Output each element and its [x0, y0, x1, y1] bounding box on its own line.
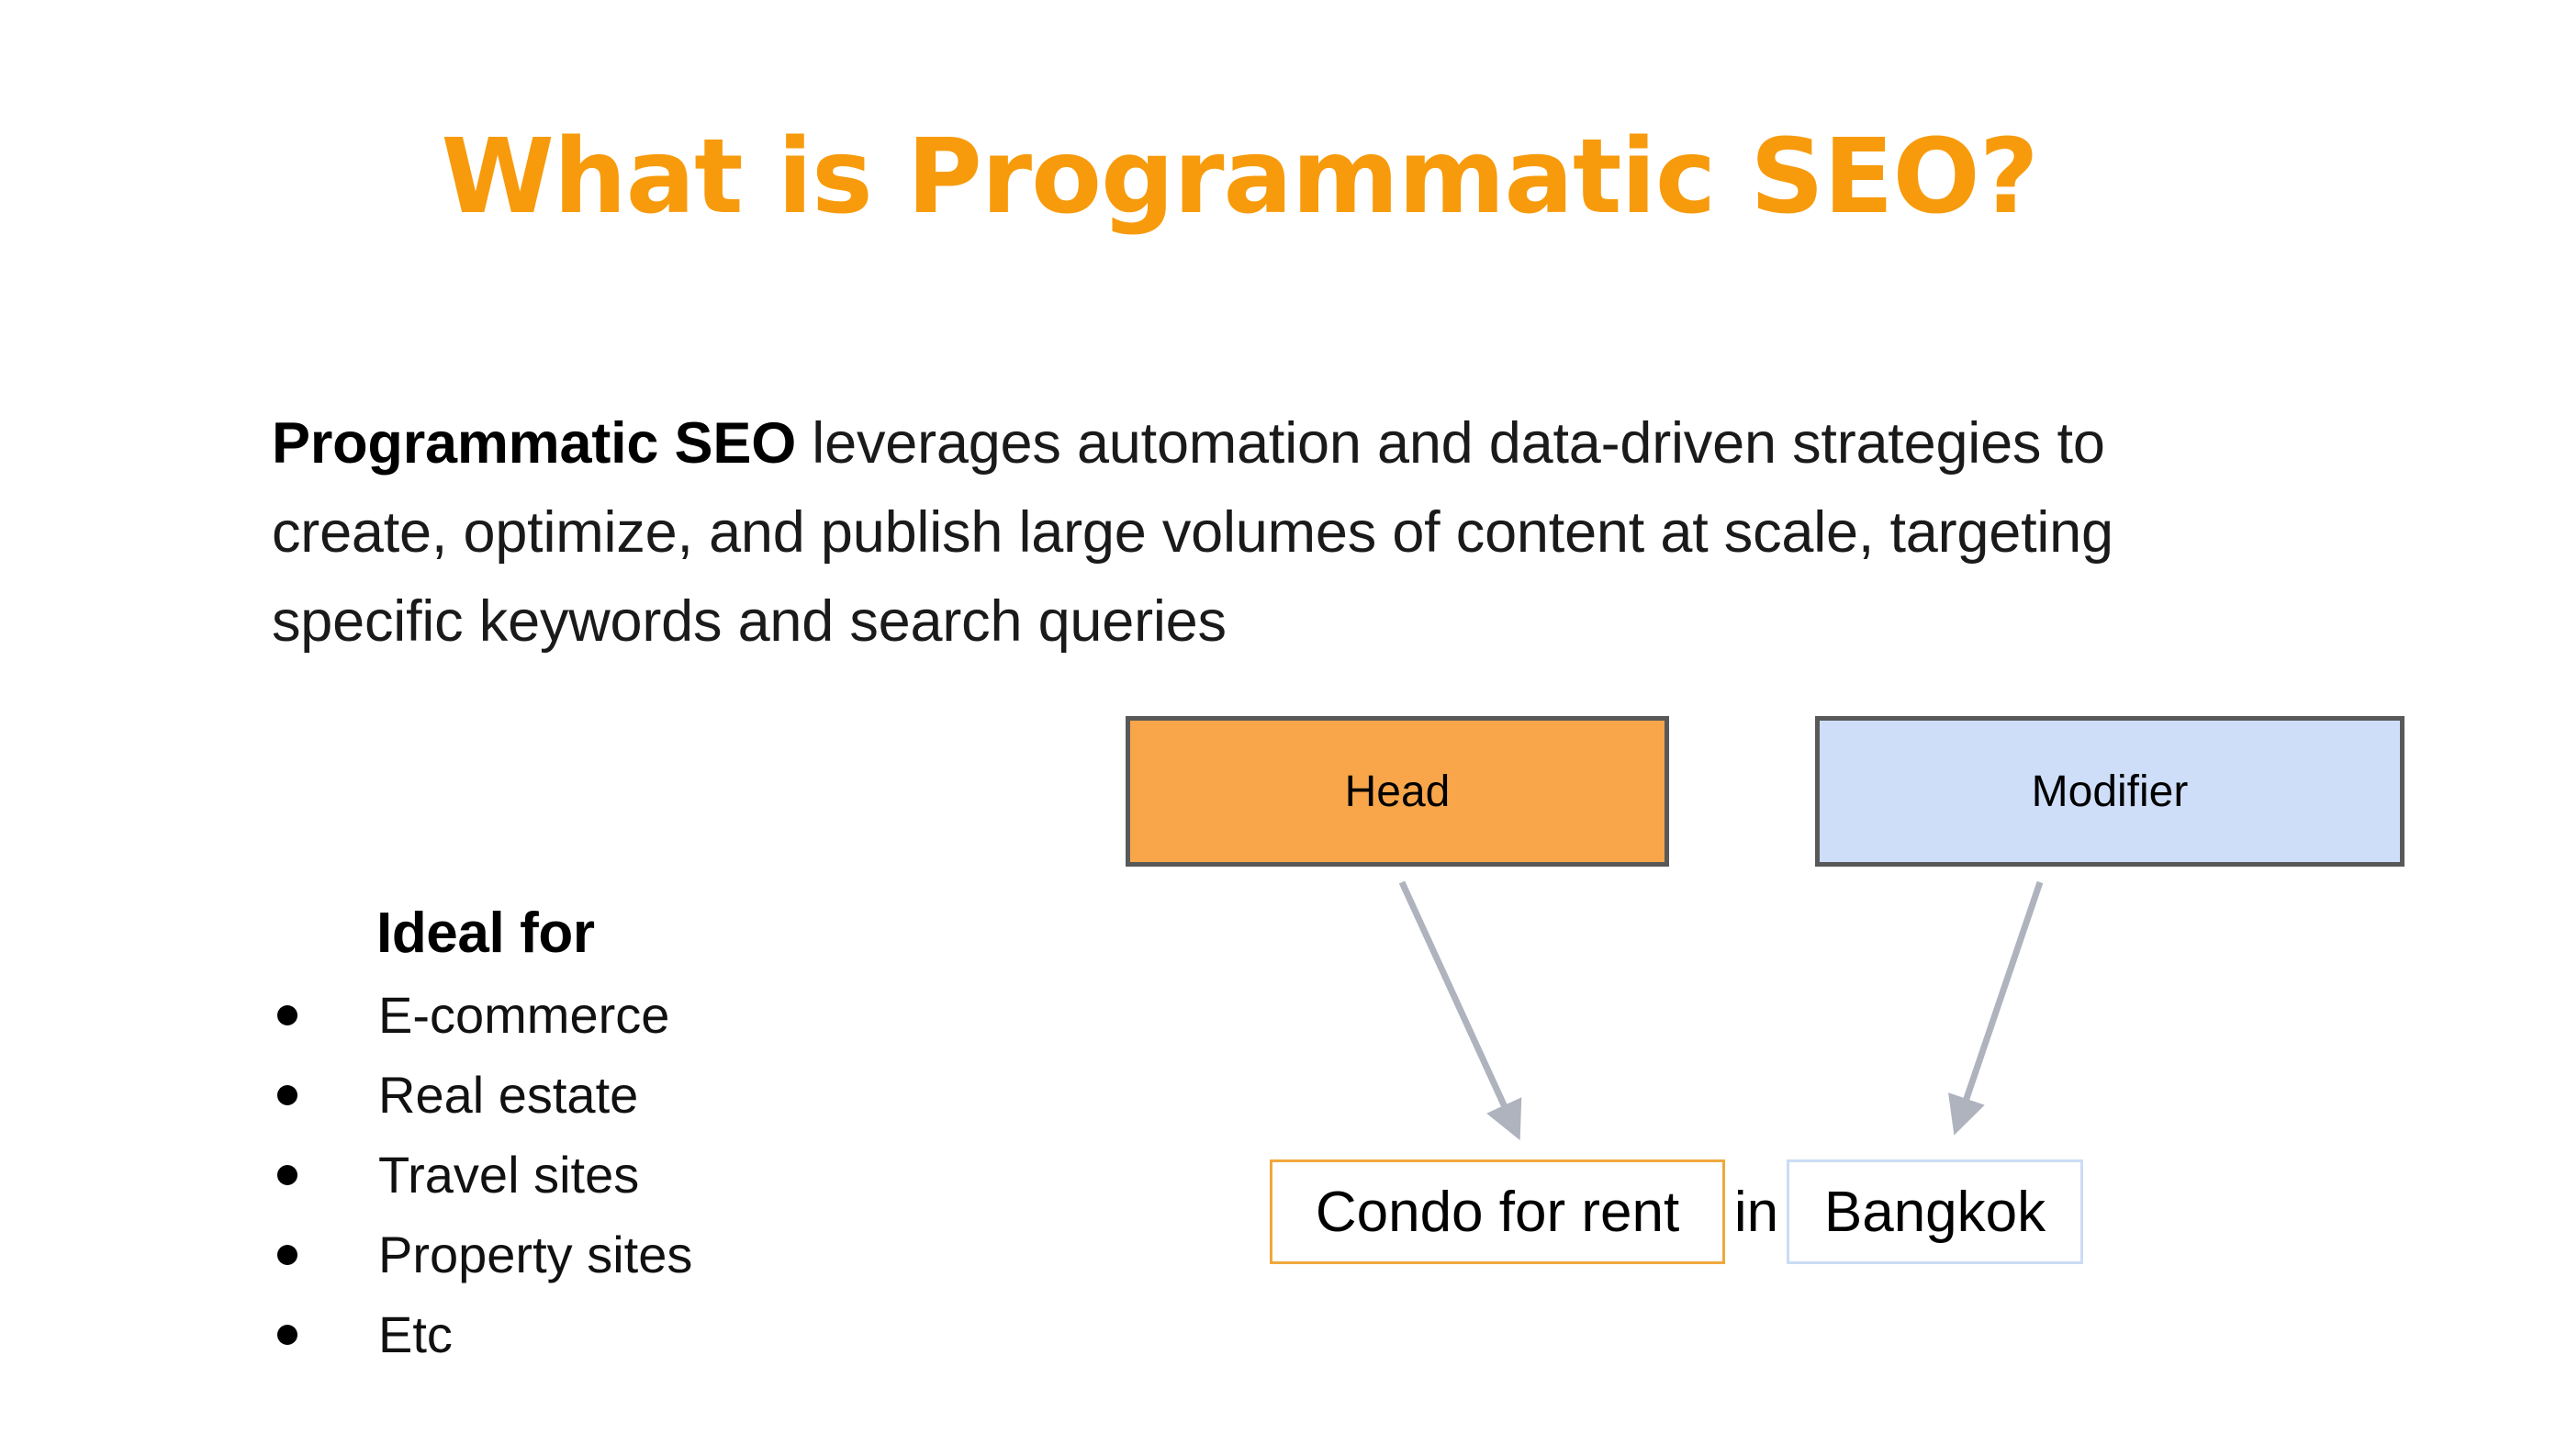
arrow-modifier-to-phrase	[1957, 882, 2040, 1126]
phrase-box-modifier: Bangkok	[1787, 1159, 2083, 1264]
phrase-connector-word: in	[1725, 1159, 1788, 1264]
phrase-head-label: Condo for rent	[1316, 1180, 1679, 1245]
arrow-head-to-phrase	[1402, 882, 1516, 1131]
keyword-structure-diagram: Head Modifier Condo for rent in Bangkok	[0, 0, 2567, 1456]
slide-canvas: What is Programmatic SEO? Programmatic S…	[0, 0, 2567, 1456]
phrase-modifier-label: Bangkok	[1824, 1180, 2046, 1245]
phrase-box-head: Condo for rent	[1270, 1159, 1725, 1264]
